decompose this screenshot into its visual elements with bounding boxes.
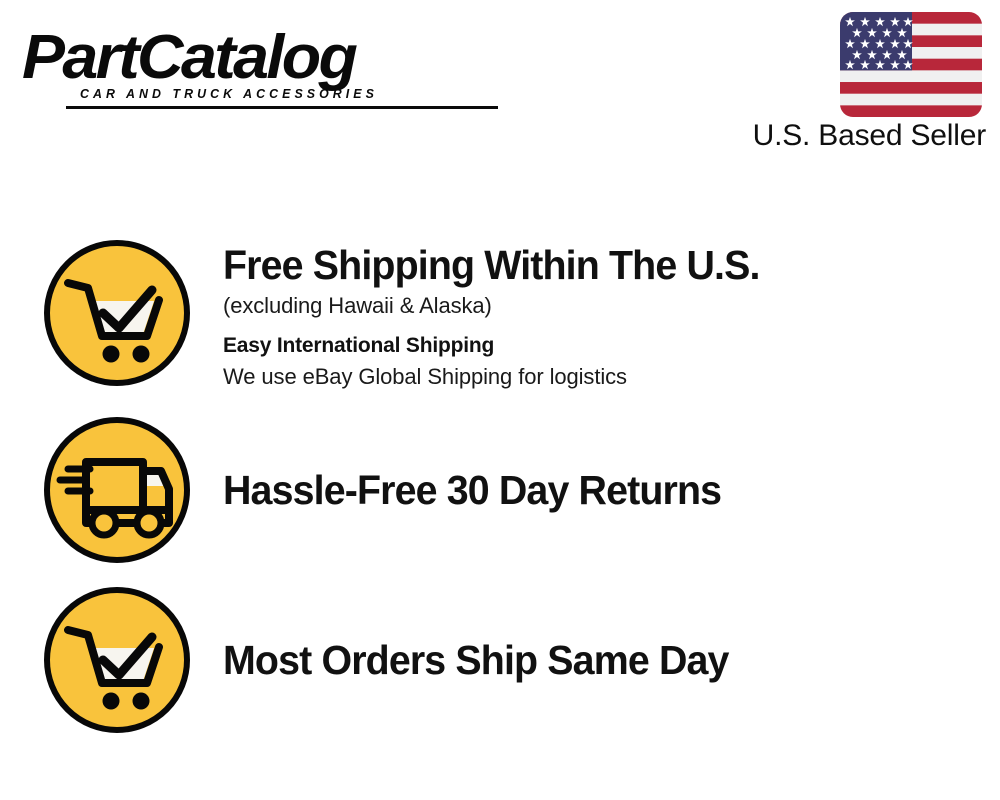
brand-logo[interactable]: PartCatalog CAR AND TRUCK ACCESSORIES (22, 26, 492, 111)
feature-row: Hassle-Free 30 Day Returns (0, 415, 1000, 565)
page-header: PartCatalog CAR AND TRUCK ACCESSORIES (0, 0, 1000, 175)
brand-wordmark: PartCatalog (22, 26, 511, 90)
feature-subtext-secondary: We use eBay Global Shipping for logistic… (223, 361, 1000, 393)
us-flag-icon (840, 12, 982, 117)
us-based-seller-label: U.S. Based Seller (600, 118, 986, 154)
feature-row: Most Orders Ship Same Day (0, 585, 1000, 735)
brand-tagline: CAR AND TRUCK ACCESSORIES (80, 87, 488, 101)
feature-row: Free Shipping Within The U.S. (excluding… (0, 238, 1000, 393)
feature-text-block: Most Orders Ship Same Day (223, 585, 1000, 735)
cart-check-icon (42, 585, 192, 735)
feature-headline: Hassle-Free 30 Day Returns (223, 465, 721, 515)
feature-headline: Free Shipping Within The U.S. (223, 240, 969, 290)
delivery-truck-icon (42, 415, 192, 565)
cart-check-icon (42, 238, 192, 388)
feature-headline: Most Orders Ship Same Day (223, 635, 729, 685)
feature-subtext-strong: Easy International Shipping (223, 330, 1000, 361)
feature-text-block: Free Shipping Within The U.S. (excluding… (223, 238, 1000, 393)
feature-text-block: Hassle-Free 30 Day Returns (223, 415, 1000, 565)
feature-subtext: (excluding Hawaii & Alaska) (223, 290, 1000, 322)
brand-underline (66, 106, 498, 109)
